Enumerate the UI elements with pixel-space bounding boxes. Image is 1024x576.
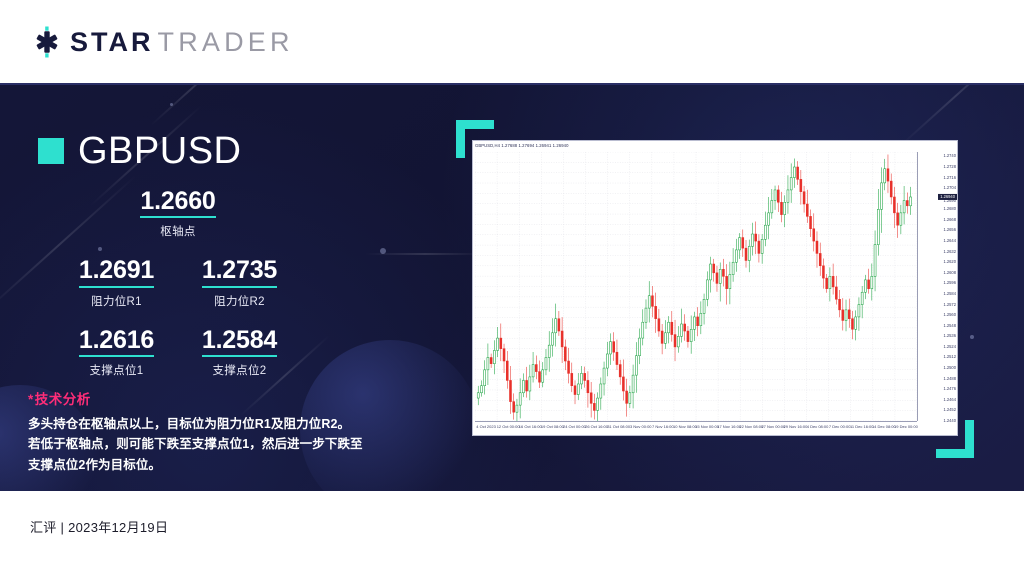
price-tick-label: 1.2656 bbox=[943, 228, 956, 232]
price-tick-label: 1.2584 bbox=[943, 292, 956, 296]
resistance-1-label: 阻力位R1 bbox=[64, 293, 169, 309]
support-1-value: 1.2616 bbox=[79, 327, 154, 357]
price-tick-label: 1.2620 bbox=[943, 260, 956, 264]
footer-caption: 汇评 | 2023年12月19日 bbox=[30, 517, 168, 536]
price-tick-label: 1.2704 bbox=[943, 186, 956, 190]
page-title: GBPUSD bbox=[78, 132, 241, 170]
resistance-1-stat: 1.2691 阻力位R1 bbox=[64, 257, 169, 308]
chart-title: GBPUSD,H4 1.27688 1.27694 1.26941 1.2694… bbox=[475, 143, 569, 151]
date-tick-label: 7 Nov 16:00 bbox=[652, 425, 674, 429]
decor-streak bbox=[149, 85, 232, 126]
analysis-heading-text: 技术分析 bbox=[35, 392, 91, 407]
decor-dot bbox=[970, 335, 974, 339]
price-tick-label: 1.2716 bbox=[943, 176, 956, 180]
support-2-value: 1.2584 bbox=[202, 327, 277, 357]
resistance-row: 1.2691 阻力位R1 1.2735 阻力位R2 bbox=[38, 257, 318, 308]
price-tick-label: 1.2740 bbox=[943, 154, 956, 158]
resistance-2-label: 阻力位R2 bbox=[187, 293, 292, 309]
analysis-block: *技术分析 多头持仓在枢轴点以上，目标位为阻力位R1及阻力位R2。 若低于枢轴点… bbox=[28, 388, 398, 475]
pivot-stat: 1.2660 枢轴点 bbox=[38, 188, 318, 239]
decor-dot bbox=[380, 248, 386, 254]
date-tick-label: 14 Dec 08:00 bbox=[872, 425, 896, 429]
support-2-label: 支撑点位2 bbox=[187, 362, 292, 378]
current-price-marker: 1.26940 bbox=[938, 194, 957, 200]
date-tick-label: 4 Oct 2023 bbox=[476, 425, 496, 429]
price-tick-label: 1.2608 bbox=[943, 271, 956, 275]
date-tick-label: 10 Nov 08:00 bbox=[673, 425, 697, 429]
price-tick-label: 1.2596 bbox=[943, 281, 956, 285]
brand-name-bold: STAR bbox=[70, 29, 154, 56]
price-tick-label: 1.2476 bbox=[943, 387, 956, 391]
price-tick-label: 1.2728 bbox=[943, 165, 956, 169]
price-tick-label: 1.2524 bbox=[943, 345, 956, 349]
chart-plot-area[interactable] bbox=[475, 152, 917, 421]
analysis-line-3: 支撑点位2作为目标位。 bbox=[28, 455, 398, 475]
date-tick-label: 15 Nov 00:00 bbox=[695, 425, 719, 429]
price-tick-label: 1.2644 bbox=[943, 239, 956, 243]
resistance-1-value: 1.2691 bbox=[79, 257, 154, 287]
date-tick-label: 26 Oct 16:00 bbox=[585, 425, 608, 429]
analysis-line-2: 若低于枢轴点，则可能下跌至支撑点位1，然后进一步下跌至 bbox=[28, 434, 398, 454]
date-tick-label: 24 Oct 00:00 bbox=[563, 425, 586, 429]
support-row: 1.2616 支撑点位1 1.2584 支撑点位2 bbox=[38, 327, 318, 378]
analysis-text: 多头持仓在枢轴点以上，目标位为阻力位R1及阻力位R2。 若低于枢轴点，则可能下跌… bbox=[28, 414, 398, 475]
brand-name-light: TRADER bbox=[158, 29, 294, 56]
date-tick-label: 19 Dec 00:00 bbox=[894, 425, 918, 429]
support-1-stat: 1.2616 支撑点位1 bbox=[64, 327, 169, 378]
analysis-heading: *技术分析 bbox=[28, 388, 398, 408]
levels-block: 1.2660 枢轴点 1.2691 阻力位R1 1.2735 阻力位R2 1.2… bbox=[38, 188, 318, 378]
price-tick-label: 1.2500 bbox=[943, 366, 956, 370]
price-tick-label: 1.2560 bbox=[943, 313, 956, 317]
analysis-asterisk: * bbox=[28, 392, 34, 407]
price-tick-label: 1.2440 bbox=[943, 419, 956, 423]
page-header: STAR TRADER bbox=[0, 0, 1024, 84]
date-tick-label: 3 Nov 00:00 bbox=[630, 425, 652, 429]
price-axis: 1.27401.27281.27161.27041.26921.26901.26… bbox=[917, 152, 957, 421]
price-tick-label: 1.2464 bbox=[943, 398, 956, 402]
price-tick-label: 1.2572 bbox=[943, 303, 956, 307]
decor-streak bbox=[899, 85, 1011, 146]
instrument-title: GBPUSD bbox=[38, 132, 241, 170]
infographic-page: STAR TRADER GBPUSD 1.2660 枢轴点 1 bbox=[0, 0, 1024, 576]
accent-square bbox=[38, 138, 64, 164]
resistance-2-stat: 1.2735 阻力位R2 bbox=[187, 257, 292, 308]
date-tick-label: 11 Dec 16:00 bbox=[850, 425, 874, 429]
price-tick-label: 1.2632 bbox=[943, 250, 956, 254]
page-footer: 汇评 | 2023年12月19日 bbox=[0, 491, 1024, 576]
pivot-label: 枢轴点 bbox=[38, 223, 318, 239]
price-tick-label: 1.2512 bbox=[943, 355, 956, 359]
price-tick-label: 1.2452 bbox=[943, 408, 956, 412]
date-tick-label: 17 Nov 16:00 bbox=[717, 425, 741, 429]
resistance-2-value: 1.2735 bbox=[202, 257, 277, 287]
support-1-label: 支撑点位1 bbox=[64, 362, 169, 378]
date-tick-label: 29 Nov 16:00 bbox=[784, 425, 808, 429]
date-axis: 4 Oct 202312 Oct 00:0016 Oct 16:0019 Oct… bbox=[475, 421, 917, 435]
price-tick-label: 1.2548 bbox=[943, 324, 956, 328]
date-tick-label: 31 Oct 08:00 bbox=[607, 425, 630, 429]
date-tick-label: 16 Oct 16:00 bbox=[519, 425, 542, 429]
price-tick-label: 1.2536 bbox=[943, 334, 956, 338]
star-asterisk-icon bbox=[30, 25, 64, 59]
price-tick-label: 1.2668 bbox=[943, 218, 956, 222]
support-2-stat: 1.2584 支撑点位2 bbox=[187, 327, 292, 378]
price-chart[interactable]: GBPUSD,H4 1.27688 1.27694 1.26941 1.2694… bbox=[472, 140, 958, 436]
price-tick-label: 1.2680 bbox=[943, 207, 956, 211]
date-tick-label: 19 Oct 08:00 bbox=[541, 425, 564, 429]
price-tick-label: 1.2488 bbox=[943, 377, 956, 381]
decor-dot bbox=[170, 103, 173, 106]
brand-logo: STAR TRADER bbox=[30, 25, 294, 59]
pivot-value: 1.2660 bbox=[140, 188, 215, 218]
date-tick-label: 4 Dec 08:00 bbox=[807, 425, 829, 429]
candlestick-svg bbox=[475, 152, 917, 421]
date-tick-label: 12 Oct 00:00 bbox=[497, 425, 520, 429]
date-tick-label: 22 Nov 08:00 bbox=[739, 425, 763, 429]
analysis-line-1: 多头持仓在枢轴点以上，目标位为阻力位R1及阻力位R2。 bbox=[28, 414, 398, 434]
date-tick-label: 27 Nov 00:00 bbox=[761, 425, 785, 429]
date-tick-label: 7 Dec 00:00 bbox=[829, 425, 851, 429]
